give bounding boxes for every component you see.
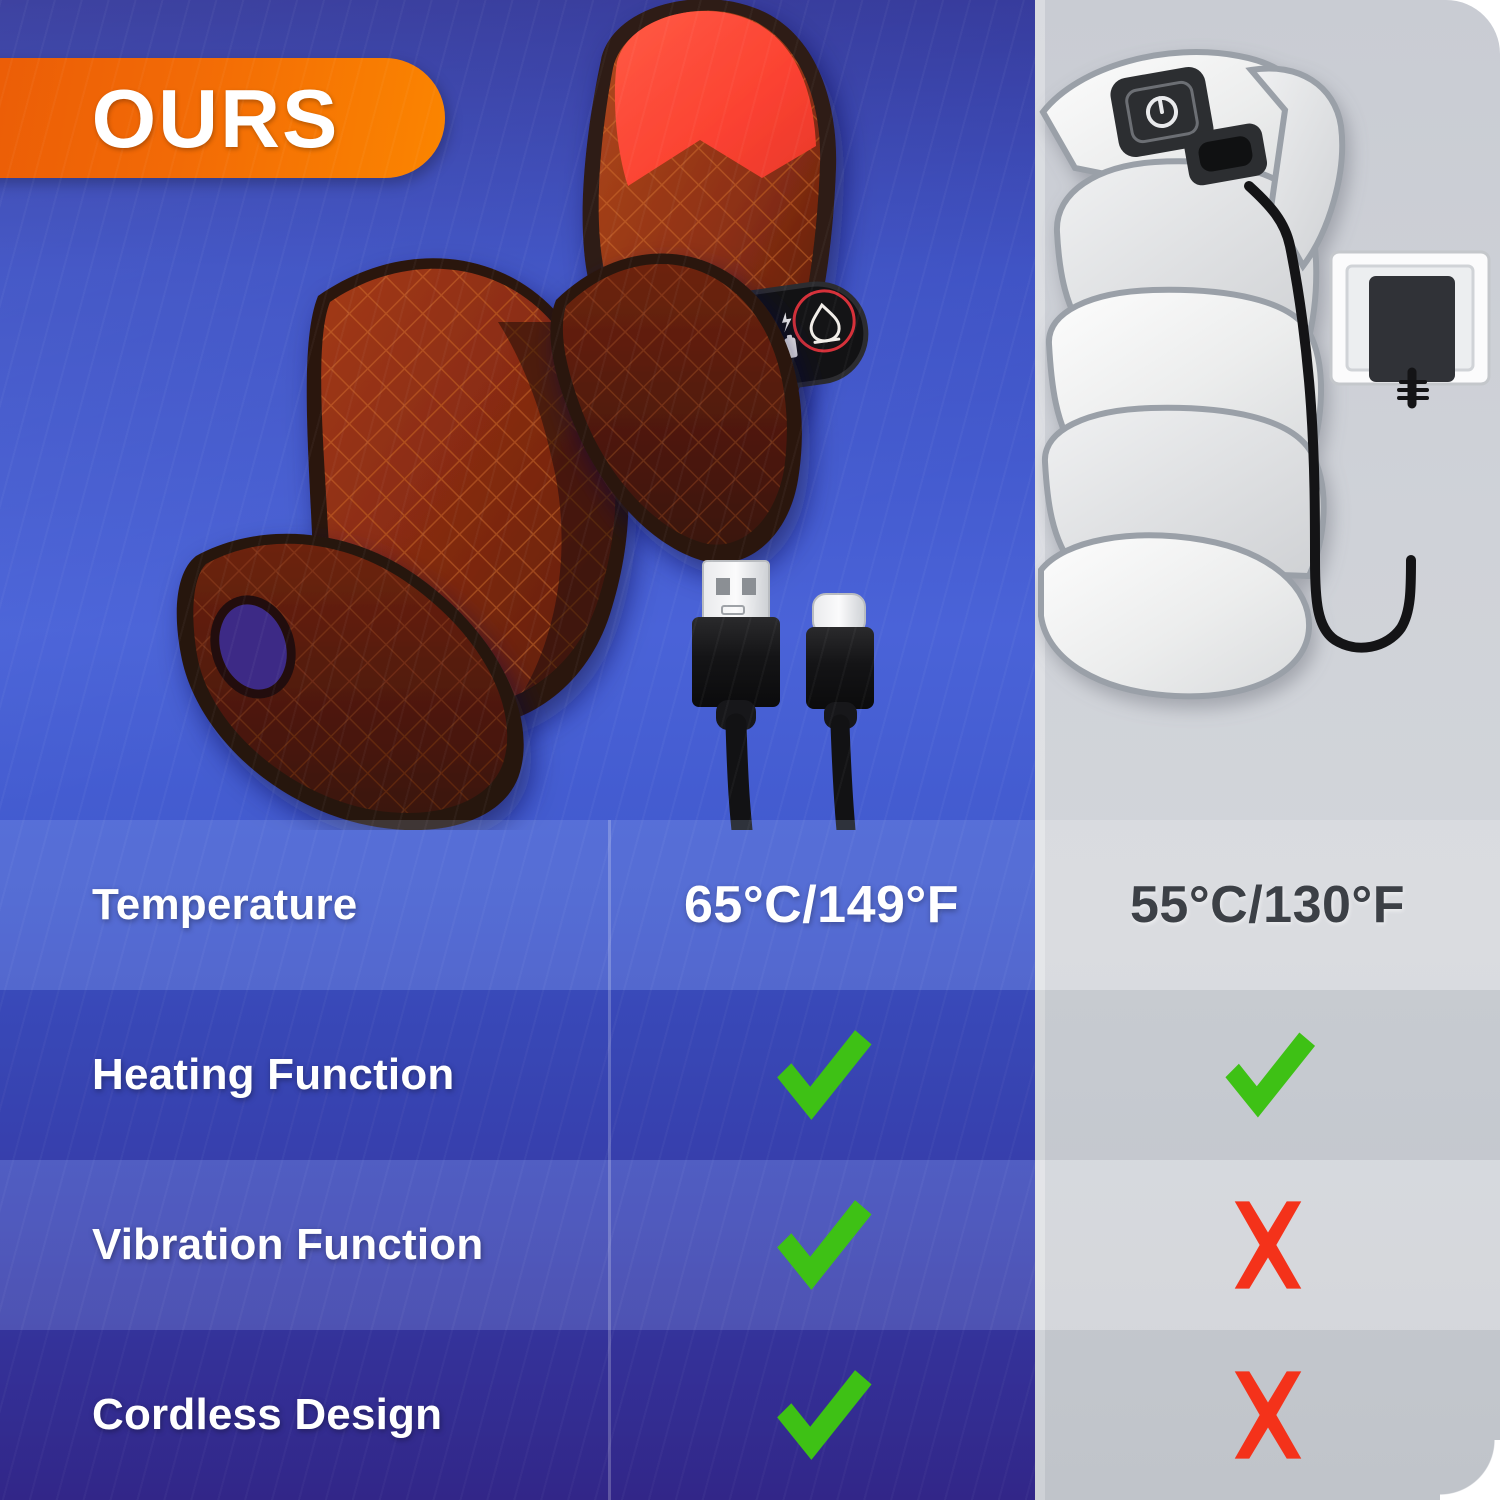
ours-badge: OURS [0,58,445,178]
ours-badge-label: OURS [92,77,340,160]
others-value-cell [1035,990,1500,1160]
ours-value-cell [608,1160,1035,1330]
cross-icon [1216,1193,1320,1297]
usb-c-connector [806,594,874,830]
row-label-cell: Temperature [0,820,608,990]
others-value-cell [1035,1160,1500,1330]
table-row: Vibration Function [0,1160,1500,1330]
feature-label: Cordless Design [92,1390,442,1440]
check-icon [763,1186,881,1304]
others-temperature-value: 55°C/130°F [1130,875,1405,935]
others-hero-image [1035,0,1500,830]
table-row: Temperature 65°C/149°F 55°C/130°F [0,820,1500,990]
table-row: Cordless Design [0,1330,1500,1500]
ours-temperature-value: 65°C/149°F [684,875,959,935]
row-label-cell: Heating Function [0,990,608,1160]
ours-value-cell [608,990,1035,1160]
check-icon [763,1016,881,1134]
ours-value-cell [608,1330,1035,1500]
feature-label: Temperature [92,880,357,930]
comparison-table: Temperature 65°C/149°F 55°C/130°F Heatin… [0,820,1500,1500]
feature-label: Vibration Function [92,1220,483,1270]
ours-value-cell: 65°C/149°F [608,820,1035,990]
row-label-cell: Cordless Design [0,1330,608,1500]
row-label-cell: Vibration Function [0,1160,608,1330]
comparison-infographic: OURS [0,0,1500,1500]
check-icon [1212,1019,1324,1131]
others-product-illustration [1035,0,1500,830]
others-value-cell [1035,1330,1500,1500]
check-icon [763,1356,881,1474]
table-row: Heating Function [0,990,1500,1160]
feature-label: Heating Function [92,1050,455,1100]
others-value-cell: 55°C/130°F [1035,820,1500,990]
usb-a-connector [692,561,780,830]
cross-icon [1216,1363,1320,1467]
